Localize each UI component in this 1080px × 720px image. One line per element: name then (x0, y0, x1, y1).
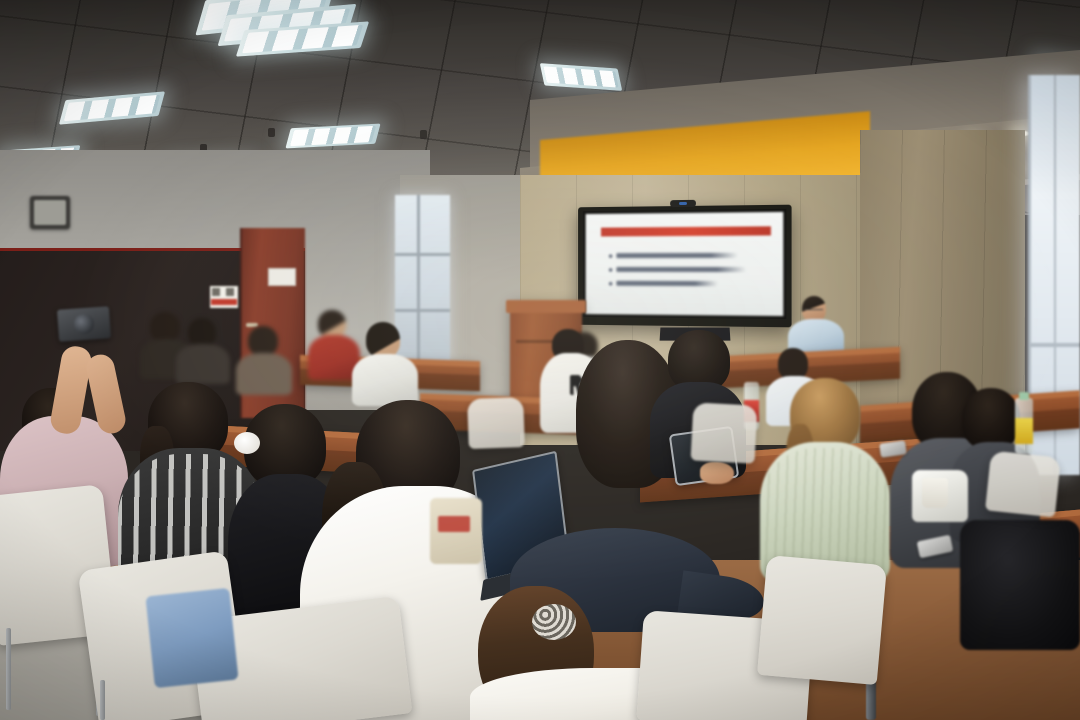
list-item (236, 326, 292, 386)
screen-bezel (583, 209, 787, 319)
slide-text-line (616, 253, 738, 258)
chair-leg (6, 628, 11, 710)
bottle-label (1015, 418, 1033, 444)
slide-text-line (616, 281, 718, 286)
slide-text-line (616, 267, 746, 272)
slide-bullet (609, 282, 613, 286)
water-bottle-yellow (1015, 398, 1033, 454)
ceiling-sprinkler-icon (268, 128, 275, 137)
ceiling-sprinkler-icon (420, 130, 427, 139)
beaded-hair-tie (532, 604, 576, 640)
slide-surface (586, 212, 784, 316)
camera-lens-icon (73, 313, 94, 334)
chair (757, 555, 887, 685)
white-shirt-attendee (352, 322, 418, 402)
wall-notice-sign (210, 286, 238, 308)
slide-bullet (609, 268, 613, 272)
chair (985, 451, 1061, 518)
chair (467, 397, 525, 449)
white-scrunchie (234, 432, 260, 454)
denim-jacket (145, 588, 238, 688)
slide-accent-bar (601, 227, 771, 237)
wall-clock-icon (30, 196, 70, 229)
tote-print (438, 516, 470, 532)
camera (57, 306, 111, 342)
presenter-glasses-icon (804, 309, 823, 314)
door-nameplate (268, 268, 296, 286)
chair (691, 402, 758, 463)
mint-jacket-attendee (760, 378, 890, 578)
screen-webcam-icon (670, 200, 696, 207)
presentation-screen[interactable] (578, 205, 791, 328)
slide-bullet (609, 254, 613, 258)
head (962, 388, 1020, 450)
backpack (960, 520, 1080, 650)
hand (700, 462, 734, 484)
paper-cup (922, 478, 948, 508)
list-item (176, 318, 230, 376)
lecture-hall-photo (0, 0, 1080, 720)
bottle-cap-icon (1019, 392, 1029, 400)
chair-leg (100, 680, 105, 720)
